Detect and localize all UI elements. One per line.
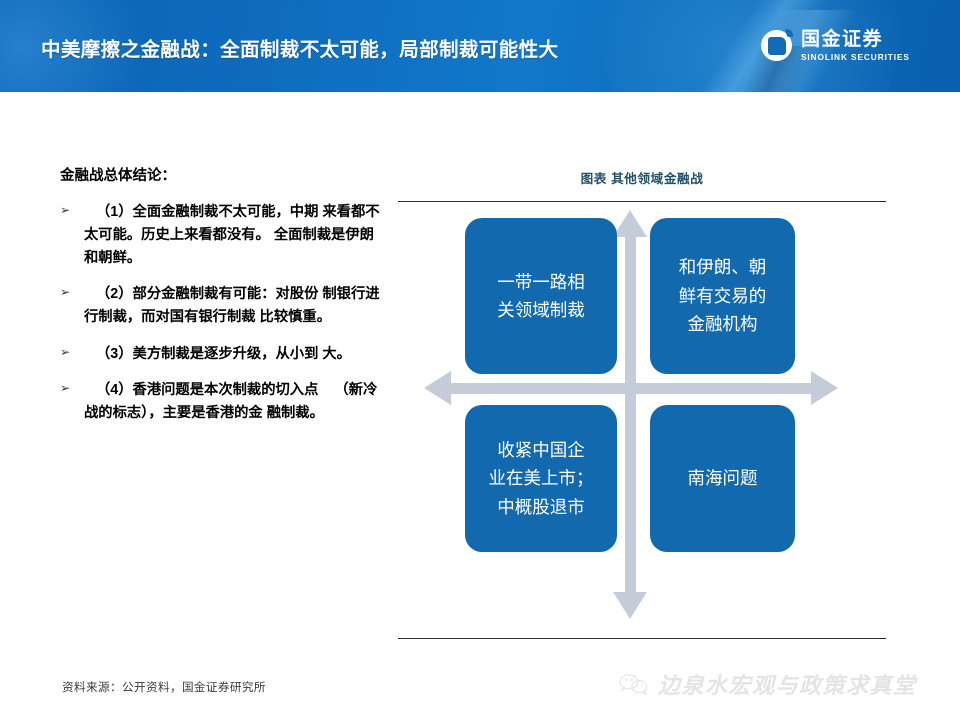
quadrant-line: 和伊朗、朝 — [679, 253, 767, 281]
arrow-down-icon — [613, 592, 647, 619]
quadrant-line: 收紧中国企 — [489, 436, 594, 464]
list-item: ➢ （1）全面金融制裁不太可能，中期 来看都不太可能。历史上来看都没有。 全面制… — [60, 201, 380, 270]
quadrant-box-bottom-right-text: 南海问题 — [688, 464, 758, 492]
source-note: 资料来源：公开资料，国金证券研究所 — [62, 679, 266, 695]
list-item-line: 融制裁。 — [267, 405, 324, 421]
vertical-axis-shaft — [625, 234, 636, 600]
list-item-text: （4）香港问题是本次制裁的切入点 （新冷战的标志），主要是香港的金 融制裁。 — [84, 379, 380, 425]
brand-logo-text: 国金证券 SINOLINK SECURITIES — [801, 30, 910, 61]
quadrant-box-bottom-right: 南海问题 — [650, 405, 795, 552]
quadrant-box-bottom-left: 收紧中国企 业在美上市； 中概股退市 — [465, 405, 617, 552]
quadrant-line: 关领域制裁 — [497, 296, 585, 324]
quadrant-line: 金融机构 — [679, 310, 767, 338]
list-item-text: （3）美方制裁是逐步升级，从小到 大。 — [84, 343, 351, 366]
conclusions-panel: 金融战总体结论： ➢ （1）全面金融制裁不太可能，中期 来看都不太可能。历史上来… — [60, 166, 380, 438]
quadrant-line: 南海问题 — [688, 464, 758, 492]
wechat-icon — [619, 673, 649, 695]
bullet-arrow-icon: ➢ — [60, 201, 84, 270]
arrow-left-icon — [424, 371, 451, 405]
chart-panel: 图表 其他领域金融战 一带一路相 关领域制裁 和伊朗、朝 鲜有交易的 金融机构 — [398, 168, 886, 640]
chart-divider-bottom — [398, 638, 886, 639]
bullet-arrow-icon: ➢ — [60, 343, 84, 366]
brand-name-en: SINOLINK SECURITIES — [801, 53, 910, 61]
list-item: ➢ （3）美方制裁是逐步升级，从小到 大。 — [60, 343, 380, 366]
quadrant-box-top-right-text: 和伊朗、朝 鲜有交易的 金融机构 — [679, 253, 767, 338]
list-item: ➢ （4）香港问题是本次制裁的切入点 （新冷战的标志），主要是香港的金 融制裁。 — [60, 379, 380, 425]
quadrant-diagram: 一带一路相 关领域制裁 和伊朗、朝 鲜有交易的 金融机构 收紧中国企 业在美上市… — [398, 208, 886, 632]
conclusions-heading: 金融战总体结论： — [60, 166, 380, 188]
chart-divider-top — [398, 201, 886, 202]
bullet-arrow-icon: ➢ — [60, 379, 84, 425]
quadrant-line: 业在美上市； — [489, 464, 594, 492]
quadrant-line: 中概股退市 — [489, 493, 594, 521]
watermark-text: 边泉水宏观与政策求真堂 — [658, 668, 917, 700]
brand-logo: 国金证券 SINOLINK SECURITIES — [761, 30, 910, 61]
list-item-text: （2）部分金融制裁有可能：对股份 制银行进行制裁，而对国有银行制裁 比较慎重。 — [84, 283, 380, 329]
chart-title: 图表 其他领域金融战 — [398, 168, 886, 187]
list-item-line: （3）美方制裁是逐步升级，从小到 — [84, 346, 318, 362]
quadrant-box-top-left: 一带一路相 关领域制裁 — [465, 218, 617, 374]
slide: 中美摩擦之金融战：全面制裁不太可能，局部制裁可能性大 国金证券 SINOLINK… — [0, 0, 960, 720]
slide-header: 中美摩擦之金融战：全面制裁不太可能，局部制裁可能性大 国金证券 SINOLINK… — [0, 0, 960, 92]
quadrant-box-top-right: 和伊朗、朝 鲜有交易的 金融机构 — [650, 218, 795, 374]
quadrant-box-bottom-left-text: 收紧中国企 业在美上市； 中概股退市 — [489, 436, 594, 521]
list-item-line: 大。 — [322, 346, 351, 362]
arrow-right-icon — [811, 371, 838, 405]
list-item-line: 比较慎重。 — [260, 309, 331, 325]
bullet-arrow-icon: ➢ — [60, 283, 84, 329]
quadrant-box-top-left-text: 一带一路相 关领域制裁 — [497, 268, 585, 325]
sinolink-ring-icon — [761, 30, 792, 61]
arrow-up-icon — [613, 210, 647, 237]
horizontal-axis-shaft — [448, 383, 814, 394]
list-item: ➢ （2）部分金融制裁有可能：对股份 制银行进行制裁，而对国有银行制裁 比较慎重… — [60, 283, 380, 329]
quadrant-line: 鲜有交易的 — [679, 282, 767, 310]
list-item-line: （2）部分金融制裁有可能：对股份 — [84, 286, 318, 302]
page-title: 中美摩擦之金融战：全面制裁不太可能，局部制裁可能性大 — [41, 33, 558, 62]
brand-name-cn: 国金证券 — [801, 30, 910, 49]
watermark: 边泉水宏观与政策求真堂 — [619, 668, 917, 700]
list-item-line: （1）全面金融制裁不太可能，中期 — [84, 204, 318, 220]
list-item-text: （1）全面金融制裁不太可能，中期 来看都不太可能。历史上来看都没有。 全面制裁是… — [84, 201, 380, 270]
list-item-line: （4）香港问题是本次制裁的切入点 — [84, 382, 318, 398]
quadrant-line: 一带一路相 — [497, 268, 585, 296]
